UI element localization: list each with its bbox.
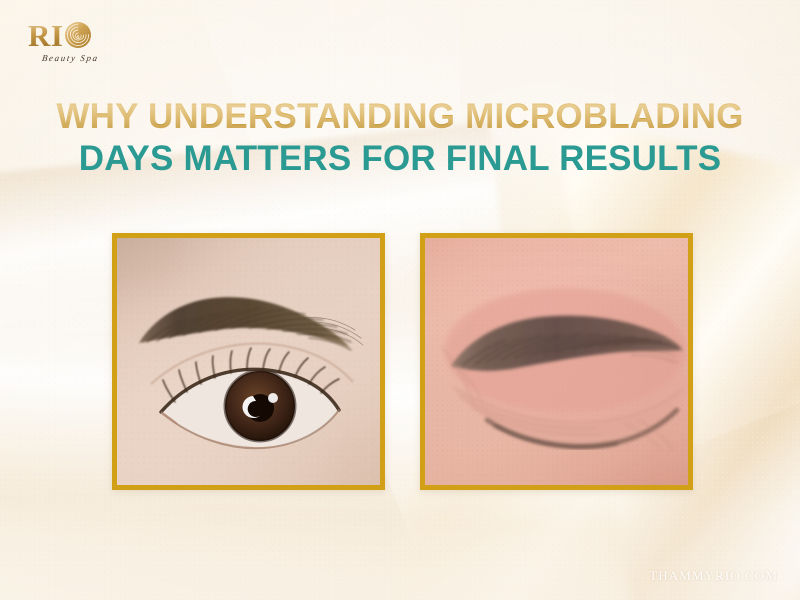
healed-eyebrow-photo[interactable] bbox=[112, 233, 385, 490]
logo-wordmark: RI bbox=[28, 18, 138, 52]
headline-line-1: WHY UNDERSTANDING MICROBLADING bbox=[0, 96, 800, 138]
fresh-microblading-photo[interactable] bbox=[420, 233, 693, 490]
healed-eyebrow-image bbox=[117, 238, 380, 485]
rose-icon bbox=[63, 20, 93, 50]
headline-line-2: DAYS MATTERS FOR FINAL RESULTS bbox=[0, 138, 800, 180]
logo-tagline: Beauty Spa bbox=[41, 53, 138, 63]
microblading-banner: RI Beauty Spa bbox=[0, 0, 800, 600]
brand-logo[interactable]: RI Beauty Spa bbox=[28, 18, 138, 74]
microbladed-eyebrow-shape bbox=[425, 238, 688, 485]
logo-letters: RI bbox=[28, 20, 63, 51]
fresh-microblading-image bbox=[425, 238, 688, 485]
eye-shape bbox=[117, 238, 380, 485]
page-title: WHY UNDERSTANDING MICROBLADING DAYS MATT… bbox=[0, 96, 800, 180]
site-watermark: THAMMYRIO.COM bbox=[649, 568, 778, 584]
